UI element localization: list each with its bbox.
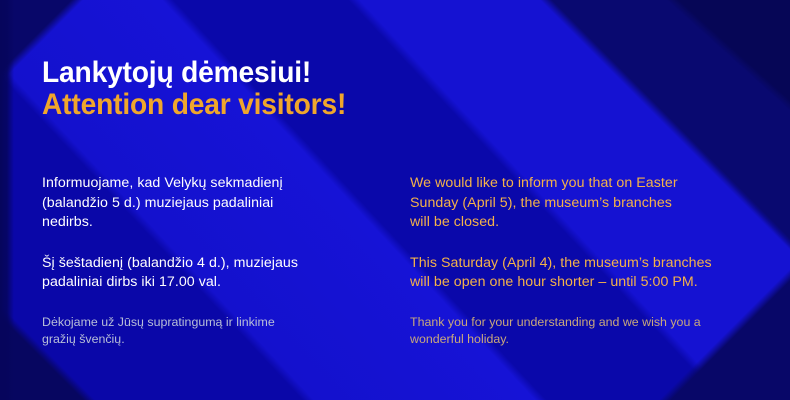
column-lithuanian: Informuojame, kad Velykų sekmadienį (bal… [42, 174, 372, 348]
english-paragraph-2: This Saturday (April 4), the museum’s br… [410, 254, 770, 293]
lithuanian-paragraph-2: Šį šeštadienį (balandžio 4 d.), muziejau… [42, 254, 372, 293]
lithuanian-paragraph-1: Informuojame, kad Velykų sekmadienį (bal… [42, 174, 372, 233]
english-closing-note: Thank you for your understanding and we … [410, 314, 770, 348]
lithuanian-closing-note: Dėkojame už Jūsų supratingumą ir linkime… [42, 314, 372, 348]
english-paragraph-1: We would like to inform you that on East… [410, 174, 770, 233]
headline-english: Attention dear visitors! [42, 90, 346, 121]
headline-lithuanian: Lankytojų dėmesiui! [42, 58, 346, 89]
column-english: We would like to inform you that on East… [410, 174, 770, 348]
headline-block: Lankytojų dėmesiui! Attention dear visit… [42, 58, 366, 120]
announcement-banner: Lankytojų dėmesiui! Attention dear visit… [0, 0, 790, 400]
